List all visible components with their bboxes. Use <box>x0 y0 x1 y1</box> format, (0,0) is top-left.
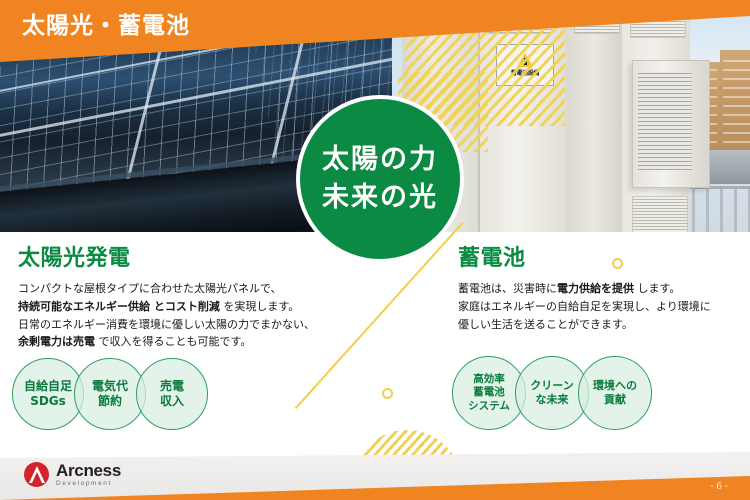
keyword-badge-line: 自給自足 <box>24 379 72 394</box>
battery-cabinet <box>480 0 566 232</box>
text-run: で収入を得ることも可能です。 <box>95 335 251 348</box>
keyword-badge-line: 売電 <box>160 379 184 394</box>
hero-badge-line-1: 太陽の力 <box>322 141 438 179</box>
right-section: 蓄電池 蓄電池は、災害時に電力供給を提供 します。家庭はエネルギーの自給自足を実… <box>458 240 740 333</box>
battery-cabinet <box>566 0 622 232</box>
right-section-badges: 高効率蓄電池システムクリーンな未来環境への貢献 <box>452 356 641 430</box>
keyword-badge-line: 収入 <box>160 394 184 409</box>
paragraph-line: 日常のエネルギー消費を環境に優しい太陽の力でまかない、 <box>18 316 398 334</box>
paragraph-line: 家庭はエネルギーの自給自足を実現し、より環境に <box>458 298 740 316</box>
paragraph-line: コンパクトな屋根タイプに合わせた太陽光パネルで、 <box>18 280 398 298</box>
text-run: 日常のエネルギー消費を環境に優しい太陽の力でまかない、 <box>18 318 315 331</box>
logo-name: Arcness <box>56 462 121 479</box>
paragraph-line: 優しい生活を送ることができます。 <box>458 316 740 334</box>
right-section-heading: 蓄電池 <box>458 240 740 272</box>
keyword-badge-line: SDGs <box>24 394 72 409</box>
keyword-badge: 売電収入 <box>136 358 208 430</box>
yellow-dot-decoration <box>382 388 393 399</box>
left-section-badges: 自給自足SDGs電気代節約売電収入 <box>12 358 198 430</box>
logo-text: Arcness Development <box>56 462 121 488</box>
emphasis-text: 電力供給を提供 <box>557 282 634 295</box>
right-section-paragraph: 蓄電池は、災害時に電力供給を提供 します。家庭はエネルギーの自給自足を実現し、よ… <box>458 280 740 333</box>
keyword-badge-text: 電気代節約 <box>92 379 128 409</box>
hero-badge-line-2: 未来の光 <box>322 179 438 217</box>
warning-triangle-icon <box>517 53 533 67</box>
logo-subtitle: Development <box>56 481 121 488</box>
keyword-badge-text: 高効率蓄電池システム <box>468 373 510 412</box>
keyword-badge-text: クリーンな未来 <box>530 379 573 407</box>
left-section: 太陽光発電 コンパクトな屋根タイプに合わせた太陽光パネルで、持続可能なエネルギー… <box>18 240 398 351</box>
keyword-badge-line: 貢献 <box>593 393 637 407</box>
paragraph-line: 蓄電池は、災害時に電力供給を提供 します。 <box>458 280 740 298</box>
keyword-badge-text: 自給自足SDGs <box>24 379 72 409</box>
keyword-badge-line: な未来 <box>530 393 573 407</box>
arcness-a-mark-icon <box>24 462 49 487</box>
keyword-badge-line: 電気代 <box>92 379 128 394</box>
keyword-badge-text: 売電収入 <box>160 379 184 409</box>
paragraph-line: 余剰電力は売電 で収入を得ることも可能です。 <box>18 333 398 351</box>
paragraph-line: 持続可能なエネルギー供給 とコスト削減 を実現します。 <box>18 298 398 316</box>
text-run: します。 <box>634 282 680 295</box>
equipment-sign-label: 蓄電池設備 <box>511 68 540 77</box>
background-building <box>720 50 750 158</box>
page-number: - 6 - <box>710 481 728 492</box>
equipment-warning-sign: 蓄電池設備 <box>496 44 554 86</box>
keyword-badge-line: 節約 <box>92 394 128 409</box>
keyword-badge: 環境への貢献 <box>578 356 652 430</box>
keyword-badge-line: システム <box>468 400 510 413</box>
keyword-badge-line: クリーン <box>530 379 573 393</box>
text-run: 優しい生活を送ることができます。 <box>458 318 633 331</box>
keyword-badge-text: 環境への貢献 <box>593 379 637 407</box>
slide: 蓄電池設備 太陽光・蓄電池 太陽の力 未来の光 太陽光発電 コンパクトな屋根タイ… <box>0 0 750 500</box>
keyword-badge-line: 高効率 <box>468 373 510 386</box>
text-run: 蓄電池は、災害時に <box>458 282 557 295</box>
text-run: を実現します。 <box>220 300 299 313</box>
keyword-badge-line: 環境への <box>593 379 637 393</box>
page-title: 太陽光・蓄電池 <box>22 6 190 40</box>
company-logo: Arcness Development <box>24 462 121 488</box>
left-section-paragraph: コンパクトな屋根タイプに合わせた太陽光パネルで、持続可能なエネルギー供給 とコス… <box>18 280 398 351</box>
building-windows <box>723 56 750 152</box>
keyword-badge-line: 蓄電池 <box>468 386 510 399</box>
text-run: 家庭はエネルギーの自給自足を実現し、より環境に <box>458 300 711 313</box>
text-run: コンパクトな屋根タイプに合わせた太陽光パネルで、 <box>18 282 282 295</box>
hero-badge-circle: 太陽の力 未来の光 <box>296 95 464 263</box>
cooling-unit-grill <box>638 72 692 170</box>
cabinet-vent <box>632 196 688 232</box>
emphasis-text: 持続可能なエネルギー供給 とコスト削減 <box>18 300 220 313</box>
emphasis-text: 余剰電力は売電 <box>18 335 95 348</box>
